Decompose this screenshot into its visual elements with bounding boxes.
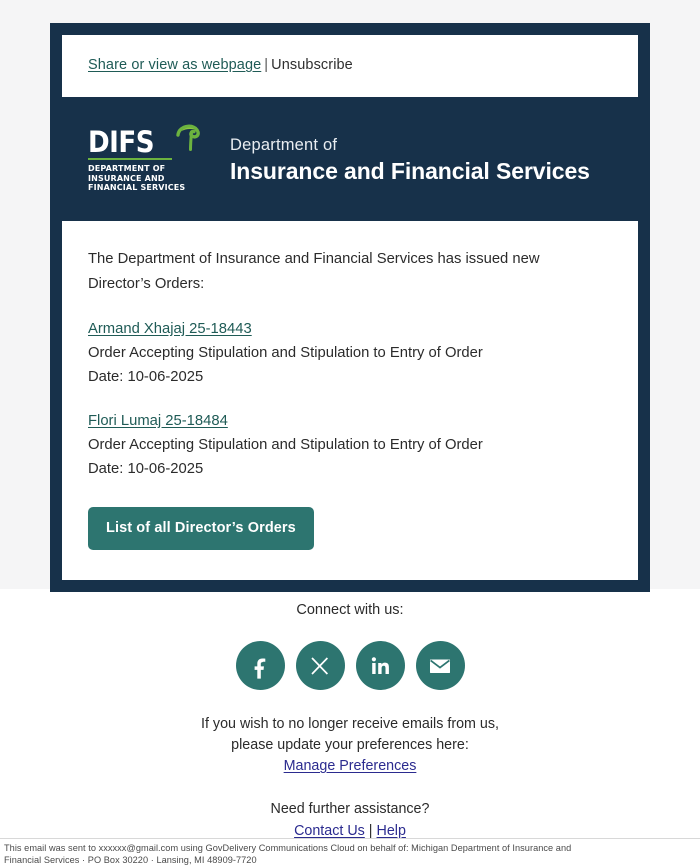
masthead-title-large: Insurance and Financial Services xyxy=(230,157,590,185)
order-date: Date: 10-06-2025 xyxy=(88,457,612,481)
order-entry: Flori Lumaj 25-18484 Order Accepting Sti… xyxy=(88,409,612,481)
order-description: Order Accepting Stipulation and Stipulat… xyxy=(88,433,612,457)
order-link[interactable]: Armand Xhajaj 25-18443 xyxy=(88,317,252,341)
manage-preferences-wrap: Manage Preferences xyxy=(0,756,700,777)
facebook-icon[interactable] xyxy=(236,641,285,690)
difs-subtitle-line-1: DEPARTMENT OF xyxy=(88,164,206,174)
unsubscribe-note-line-2: please update your preferences here: xyxy=(0,735,700,756)
x-twitter-icon[interactable] xyxy=(296,641,345,690)
legal-fine-print: This email was sent to xxxxxx@gmail.com … xyxy=(4,843,644,866)
unsubscribe-link[interactable]: Unsubscribe xyxy=(271,57,353,73)
order-description: Order Accepting Stipulation and Stipulat… xyxy=(88,341,612,365)
assistance-separator: | xyxy=(365,823,377,839)
cta-wrapper: List of all Director’s Orders xyxy=(88,507,612,550)
order-link[interactable]: Flori Lumaj 25-18484 xyxy=(88,409,228,433)
difs-logo: DIFS DEPARTMENT OF INSURANCE AND FINANCI… xyxy=(88,127,206,193)
social-links-row xyxy=(0,641,700,690)
preheader-bar: Share or view as webpage|Unsubscribe xyxy=(62,35,638,97)
legal-divider xyxy=(0,838,700,839)
difs-wordmark-row: DIFS xyxy=(88,127,206,157)
masthead-title-small: Department of xyxy=(230,134,590,156)
email-masthead: DIFS DEPARTMENT OF INSURANCE AND FINANCI… xyxy=(62,97,638,221)
difs-tree-leaf-icon xyxy=(168,119,208,159)
legal-line-1: This email was sent to xxxxxx@gmail.com … xyxy=(4,843,644,855)
email-icon[interactable] xyxy=(416,641,465,690)
manage-preferences-link[interactable]: Manage Preferences xyxy=(284,758,417,774)
assistance-block: Need further assistance? Contact Us|Help xyxy=(0,798,700,842)
difs-logo-subtitle: DEPARTMENT OF INSURANCE AND FINANCIAL SE… xyxy=(88,164,206,193)
contact-us-link[interactable]: Contact Us xyxy=(294,823,365,839)
email-card: Share or view as webpage|Unsubscribe DIF… xyxy=(50,23,650,592)
assistance-heading: Need further assistance? xyxy=(0,798,700,820)
footer-section: Connect with us: xyxy=(0,600,700,842)
linkedin-icon[interactable] xyxy=(356,641,405,690)
help-link[interactable]: Help xyxy=(377,823,406,839)
difs-subtitle-line-3: FINANCIAL SERVICES xyxy=(88,183,206,193)
unsubscribe-note-line-1: If you wish to no longer receive emails … xyxy=(0,714,700,735)
preheader-separator: | xyxy=(261,57,271,73)
share-or-view-as-webpage-link[interactable]: Share or view as webpage xyxy=(88,57,261,73)
order-entry: Armand Xhajaj 25-18443 Order Accepting S… xyxy=(88,317,612,389)
order-date: Date: 10-06-2025 xyxy=(88,365,612,389)
email-body-panel: The Department of Insurance and Financia… xyxy=(62,221,638,580)
unsubscribe-note: If you wish to no longer receive emails … xyxy=(0,714,700,777)
masthead-title: Department of Insurance and Financial Se… xyxy=(230,134,590,185)
email-preview-page: Share or view as webpage|Unsubscribe DIF… xyxy=(0,0,700,868)
difs-wordmark-text: DIFS xyxy=(88,125,154,159)
intro-paragraph: The Department of Insurance and Financia… xyxy=(88,247,563,297)
list-of-all-directors-orders-button[interactable]: List of all Director’s Orders xyxy=(88,507,314,550)
connect-with-us-label: Connect with us: xyxy=(0,600,700,620)
difs-subtitle-line-2: INSURANCE AND xyxy=(88,174,206,184)
legal-line-2: Financial Services · PO Box 30220 · Lans… xyxy=(4,855,644,867)
